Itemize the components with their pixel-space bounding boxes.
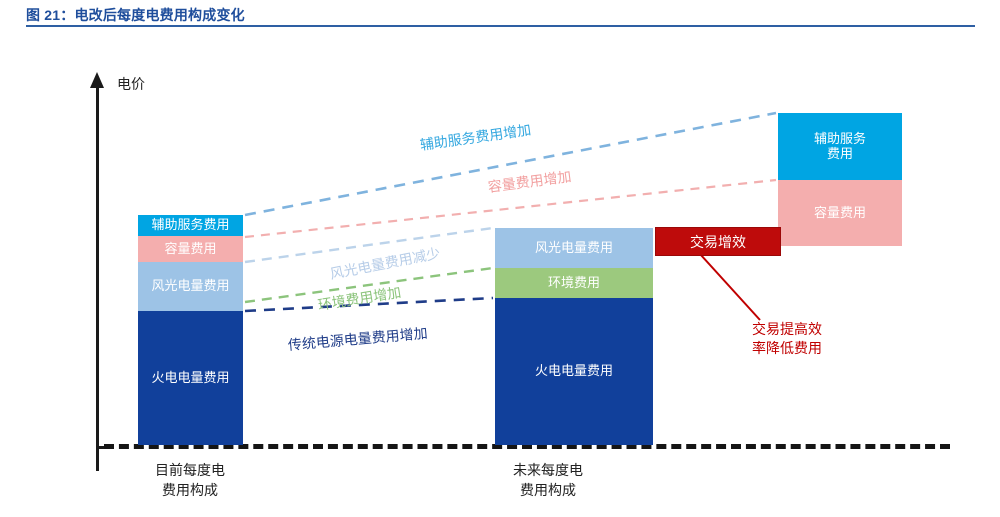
category-current-line1: 目前每度电 [110,460,270,480]
category-future-line2: 费用构成 [468,480,628,500]
category-current-line2: 费用构成 [110,480,270,500]
trade-efficiency-box: 交易增效 [655,227,781,256]
segment-aux-service: 辅助服务费用 [138,215,243,236]
bar-future-capacity: 辅助服务 费用 容量费用 [778,32,902,292]
trade-note-line1: 交易提高效 [752,320,860,339]
segment-aux-service: 辅助服务 费用 [778,113,902,180]
bar-current: 辅助服务费用 容量费用 风光电量费用 火电电量费用 [138,32,243,477]
trade-efficiency-note: 交易提高效 率降低费用 [752,320,860,358]
chart-plot-area: 电价 辅助服务费用增加 容量费用增加 风光电量费用减少 环境费用增加 传统电源电… [0,32,1000,517]
segment-aux-service-line1: 辅助服务 [814,132,866,147]
title-divider [26,25,975,27]
segment-renewable-energy: 风光电量费用 [495,228,653,268]
trade-note-line2: 率降低费用 [752,339,860,358]
segment-environment-fee: 环境费用 [495,268,653,298]
category-future-line1: 未来每度电 [468,460,628,480]
segment-aux-service-line2: 费用 [827,147,853,162]
bar-future-energy: 风光电量费用 环境费用 火电电量费用 [495,32,653,477]
figure-header: 图 21：电改后每度电费用构成变化 [0,0,1000,32]
category-label-future: 未来每度电 费用构成 [468,460,628,501]
category-label-current: 目前每度电 费用构成 [110,460,270,501]
segment-thermal-energy: 火电电量费用 [495,298,653,445]
segment-capacity: 容量费用 [778,180,902,246]
segment-renewable-energy: 风光电量费用 [138,262,243,311]
page-title: 图 21：电改后每度电费用构成变化 [26,5,245,25]
callout-leader-line [700,254,760,320]
segment-thermal-energy: 火电电量费用 [138,311,243,445]
segment-capacity: 容量费用 [138,236,243,262]
